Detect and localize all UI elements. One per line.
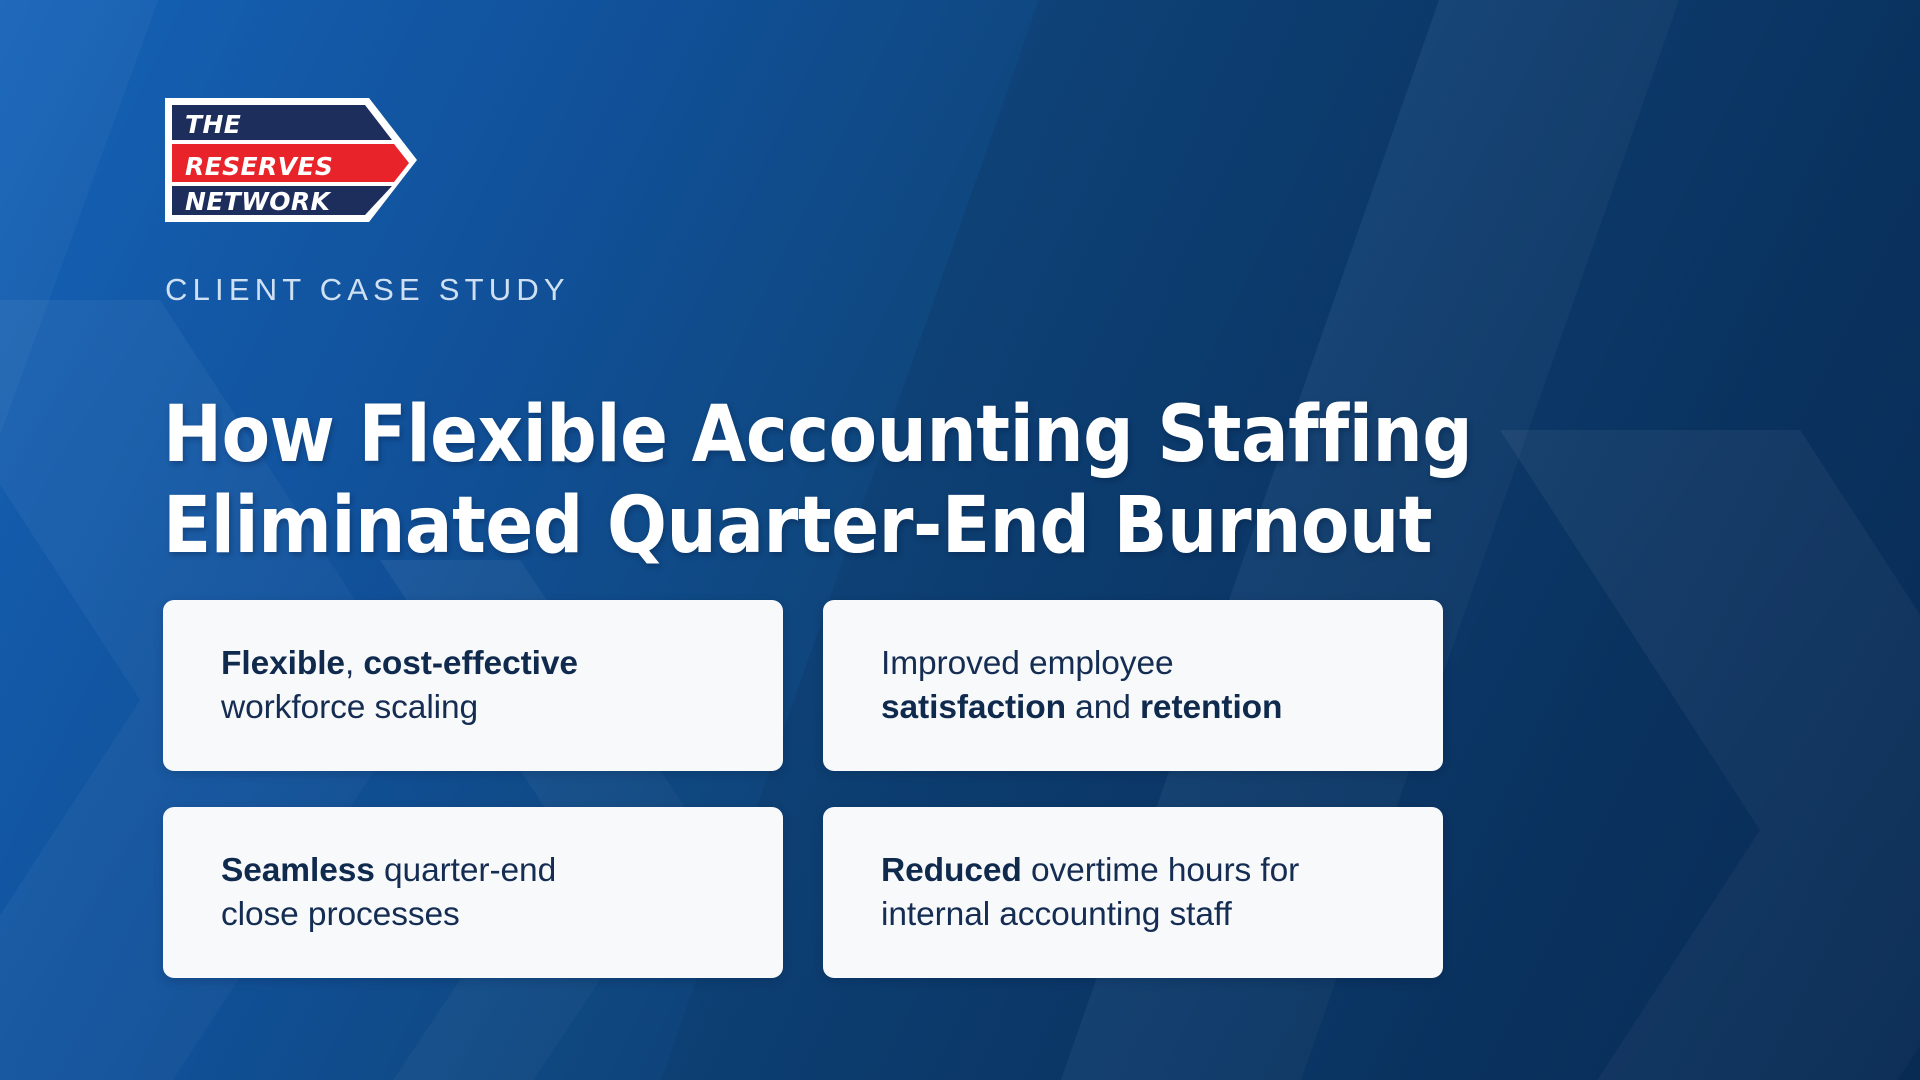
card-text-line: Flexible, cost-effective	[221, 642, 578, 686]
card-text-emphasis: Reduced	[881, 852, 1022, 889]
card-text: Flexible, cost-effectiveworkforce scalin…	[221, 642, 578, 729]
card-text-segment: internal accounting staff	[881, 896, 1232, 933]
card-text-segment: close processes	[221, 896, 460, 933]
card-text-line: workforce scaling	[221, 686, 578, 730]
logo-text-reserves: RESERVES	[185, 152, 333, 181]
highlight-card-grid: Flexible, cost-effectiveworkforce scalin…	[163, 600, 1443, 978]
card-text-emphasis: satisfaction	[881, 689, 1066, 726]
card-text-line: Improved employee	[881, 642, 1282, 686]
card-text-segment: and	[1066, 689, 1140, 726]
card-text: Reduced overtime hours forinternal accou…	[881, 849, 1299, 936]
card-text: Improved employeesatisfaction and retent…	[881, 642, 1282, 729]
the-reserves-network-logo[interactable]: THE RESERVES NETWORK	[163, 96, 419, 224]
card-text-line: close processes	[221, 893, 556, 937]
eyebrow-label: CLIENT CASE STUDY	[165, 272, 570, 308]
card-text-emphasis: Seamless	[221, 852, 375, 889]
card-text-line: Reduced overtime hours for	[881, 849, 1299, 893]
card-text-emphasis: cost-effective	[363, 645, 578, 682]
card-text: Seamless quarter-endclose processes	[221, 849, 556, 936]
card-text-emphasis: retention	[1140, 689, 1282, 726]
headline-line-2: Eliminated Quarter-End Burnout	[163, 481, 1484, 571]
headline-line-1: How Flexible Accounting Staffing	[163, 390, 1484, 480]
logo-text-the: THE	[185, 110, 241, 139]
card-text-line: internal accounting staff	[881, 893, 1299, 937]
card-employee-satisfaction-retention[interactable]: Improved employeesatisfaction and retent…	[823, 600, 1443, 771]
card-text-segment: ,	[345, 645, 363, 682]
card-seamless-quarter-end-close[interactable]: Seamless quarter-endclose processes	[163, 807, 783, 978]
card-reduced-overtime-hours[interactable]: Reduced overtime hours forinternal accou…	[823, 807, 1443, 978]
card-text-segment: workforce scaling	[221, 689, 478, 726]
case-study-slide: THE RESERVES NETWORK CLIENT CASE STUDY H…	[0, 0, 1920, 1080]
card-text-segment: overtime hours for	[1022, 852, 1299, 889]
card-text-segment: quarter-end	[375, 852, 556, 889]
card-text-line: Seamless quarter-end	[221, 849, 556, 893]
page-title: How Flexible Accounting Staffing Elimina…	[163, 390, 1484, 571]
logo-text-network: NETWORK	[185, 187, 332, 216]
card-flexible-cost-effective[interactable]: Flexible, cost-effectiveworkforce scalin…	[163, 600, 783, 771]
card-text-emphasis: Flexible	[221, 645, 345, 682]
card-text-line: satisfaction and retention	[881, 686, 1282, 730]
card-text-segment: Improved employee	[881, 645, 1174, 682]
